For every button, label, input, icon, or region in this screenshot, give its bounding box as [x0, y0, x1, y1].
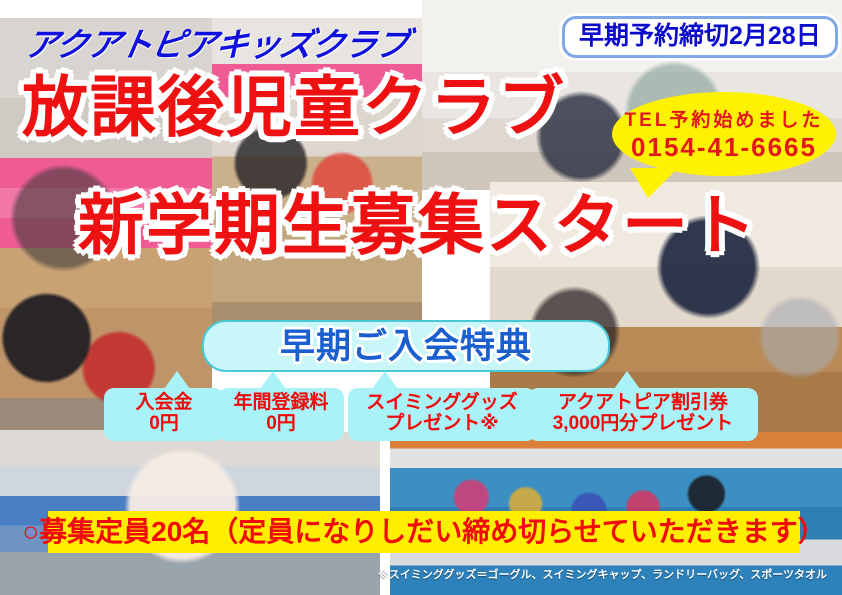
benefit-bubble-swimming-goods: スイミンググッズ プレゼント※: [348, 388, 536, 441]
telephone-bubble-heading: TEL予約始めました: [625, 105, 824, 132]
telephone-number: 0154-41-6665: [631, 132, 817, 163]
benefit-label-line2: プレゼント※: [385, 414, 498, 435]
headline-line-1: 放課後児童クラブ: [22, 74, 566, 140]
benefit-label-line2: 0円: [266, 414, 296, 435]
benefit-label-line1: 入会金: [135, 393, 192, 414]
benefit-bubble-discount-voucher: アクアトピア割引券 3,000円分プレゼント: [528, 388, 758, 441]
bubble-tail-icon: [630, 168, 678, 198]
benefit-label-line2: 3,000円分プレゼント: [553, 414, 734, 435]
flyer-poster: アクアトピアキッズクラブ 放課後児童クラブ 新学期生募集スタート 早期予約締切2…: [0, 0, 842, 595]
club-logo: アクアトピアキッズクラブ: [22, 18, 413, 66]
bubble-tail-icon: [164, 371, 190, 389]
benefit-bubble-enrollment-fee: 入会金 0円: [104, 388, 224, 441]
capacity-strip-label: ○募集定員20名（定員になりしだい締め切らせていただきます）: [22, 518, 826, 546]
headline-line-2: 新学期生募集スタート: [78, 192, 758, 258]
bubble-tail-icon: [372, 371, 398, 389]
benefit-banner: 早期ご入会特典: [202, 320, 610, 372]
bubble-tail-icon: [614, 371, 640, 389]
deadline-badge: 早期予約締切2月28日: [562, 16, 838, 58]
deadline-badge-label: 早期予約締切2月28日: [579, 23, 821, 49]
benefit-label-line2: 0円: [149, 414, 179, 435]
benefit-bubble-annual-registration: 年間登録料 0円: [218, 388, 344, 441]
bubble-tail-icon: [260, 371, 286, 389]
photo-children-jump-rope: [212, 18, 422, 348]
telephone-bubble: TEL予約始めました 0154-41-6665: [612, 92, 836, 176]
benefit-banner-label: 早期ご入会特典: [280, 329, 532, 364]
footnote-swimming-goods: ※スイミンググッズ＝ゴーグル、スイミングキャップ、ランドリーバッグ、スポーツタオ…: [378, 566, 828, 582]
benefit-label-line1: スイミンググッズ: [366, 393, 518, 414]
benefit-label-line1: アクアトピア割引券: [558, 393, 728, 414]
benefit-label-line1: 年間登録料: [233, 393, 328, 414]
capacity-strip: ○募集定員20名（定員になりしだい締め切らせていただきます）: [48, 511, 800, 553]
